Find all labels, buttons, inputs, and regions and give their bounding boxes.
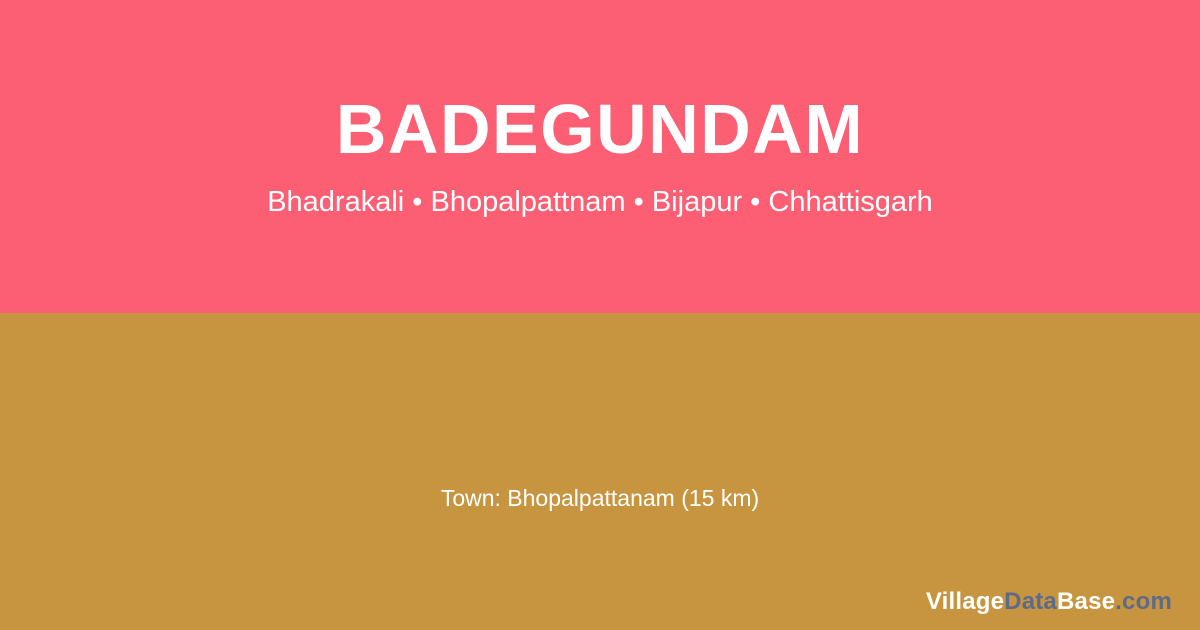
hero-banner: BADEGUNDAM Bhadrakali • Bhopalpattnam • … [0, 0, 1200, 313]
detail-panel: Town: Bhopalpattanam (15 km) [0, 313, 1200, 630]
page-title: BADEGUNDAM [336, 93, 864, 167]
village-info-card: BADEGUNDAM Bhadrakali • Bhopalpattnam • … [0, 0, 1200, 630]
site-watermark: VillageDataBase.com [926, 588, 1172, 616]
watermark-base-text: Base [1057, 588, 1115, 615]
watermark-data-text: Data [1004, 588, 1057, 615]
nearest-town-label: Town: Bhopalpattanam (15 km) [0, 485, 1200, 512]
watermark-village-text: Village [926, 588, 1004, 615]
breadcrumb: Bhadrakali • Bhopalpattnam • Bijapur • C… [267, 185, 933, 220]
watermark-domain-text: .com [1115, 588, 1172, 615]
